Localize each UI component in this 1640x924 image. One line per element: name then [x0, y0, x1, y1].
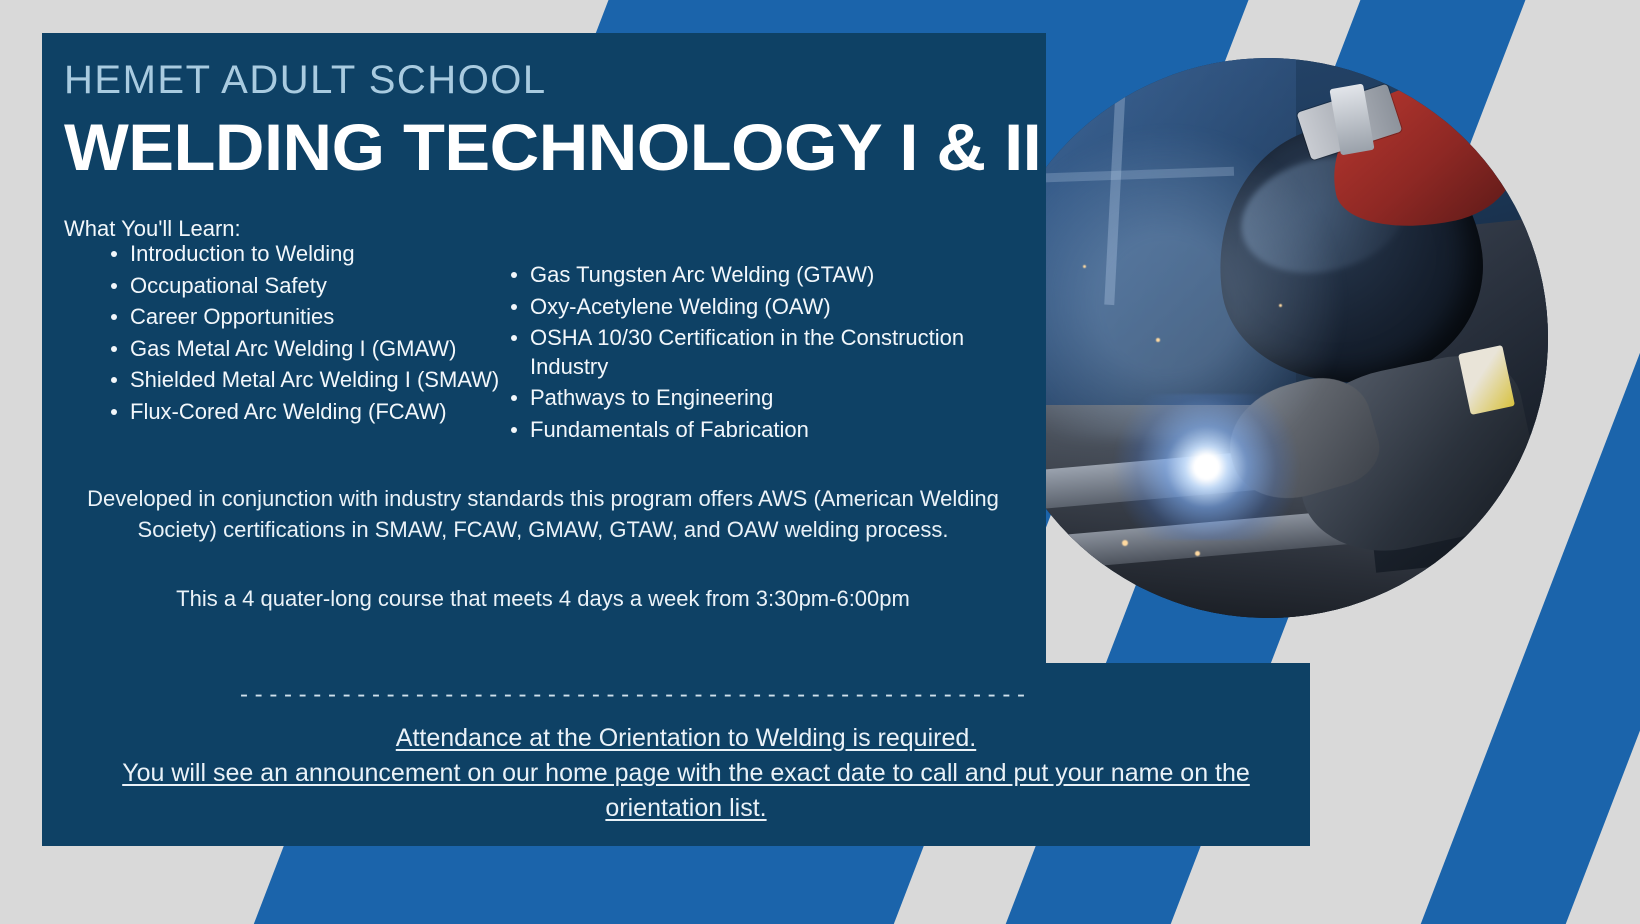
orientation-line-2: You will see an announcement on our home… — [122, 759, 1250, 822]
poster-canvas: HEMET ADULT SCHOOL WELDING TECHNOLOGY I … — [0, 0, 1640, 924]
topic-item: Career Opportunities — [99, 303, 519, 332]
topic-item: Oxy-Acetylene Welding (OAW) — [499, 293, 1019, 322]
school-name: HEMET ADULT SCHOOL — [64, 58, 547, 103]
topic-item: OSHA 10/30 Certification in the Construc… — [499, 324, 1019, 381]
program-description: Developed in conjunction with industry s… — [64, 483, 1022, 545]
page-title: WELDING TECHNOLOGY I & II — [64, 109, 1041, 185]
topic-item: Introduction to Welding — [99, 240, 519, 269]
what-youll-learn-label: What You'll Learn: — [64, 216, 241, 242]
topic-item: Shielded Metal Arc Welding I (SMAW) — [99, 366, 519, 395]
topics-list-left: Introduction to WeldingOccupational Safe… — [99, 240, 519, 429]
orientation-notice: Attendance at the Orientation to Welding… — [64, 721, 1308, 826]
topic-item: Fundamentals of Fabrication — [499, 416, 1019, 445]
topic-item: Pathways to Engineering — [499, 384, 1019, 413]
topics-list-right: Gas Tungsten Arc Welding (GTAW)Oxy-Acety… — [499, 261, 1019, 447]
dashed-divider: - - - - - - - - - - - - - - - - - - - - … — [240, 681, 1035, 701]
orientation-line-1: Attendance at the Orientation to Welding… — [396, 724, 976, 752]
schedule-description: This a 4 quater-long course that meets 4… — [64, 583, 1022, 614]
topic-item: Gas Metal Arc Welding I (GMAW) — [99, 335, 519, 364]
topic-item: Gas Tungsten Arc Welding (GTAW) — [499, 261, 1019, 290]
topic-item: Occupational Safety — [99, 272, 519, 301]
poster-content: HEMET ADULT SCHOOL WELDING TECHNOLOGY I … — [42, 33, 1310, 846]
topic-item: Flux-Cored Arc Welding (FCAW) — [99, 398, 519, 427]
